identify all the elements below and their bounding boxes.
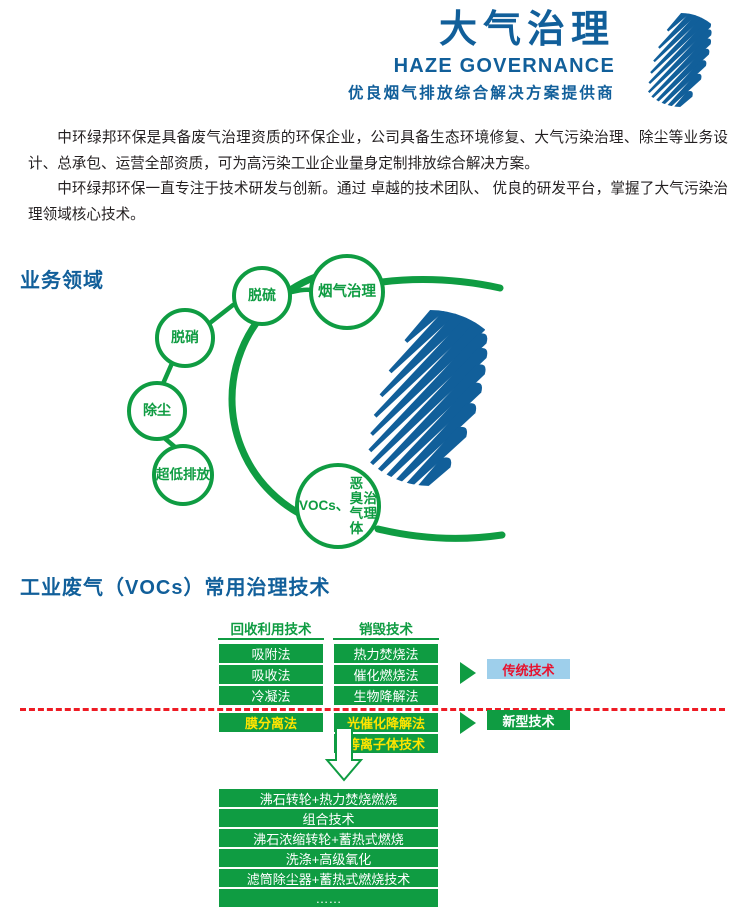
node-line: VOCs、	[299, 498, 349, 513]
voc-column-rule-recovery	[218, 638, 324, 640]
voc-box-recovery-1: 吸附法	[218, 643, 324, 664]
arrow-down-icon	[324, 726, 364, 786]
header-subtitle: 优良烟气排放综合解决方案提供商	[348, 83, 615, 105]
header-title-cn: 大气治理	[348, 8, 615, 52]
diagram-node-yanqi: 烟气治理	[309, 254, 385, 330]
node-line: 排放	[183, 467, 210, 482]
intro-paragraph-1: 中环绿邦环保是具备废气治理资质的环保企业，公司具备生态环境修复、大气污染治理、除…	[28, 126, 728, 177]
node-line: 烟气	[318, 284, 347, 300]
voc-box-destruction-3: 生物降解法	[333, 685, 439, 706]
voc-technology-diagram: 回收利用技术 销毁技术 吸附法 吸收法 冷凝法 热力焚烧法 催化燃烧法 生物降解…	[0, 600, 750, 900]
intro-paragraphs: 中环绿邦环保是具备废气治理资质的环保企业，公司具备生态环境修复、大气污染治理、除…	[28, 126, 728, 228]
voc-badge-traditional: 传统技术	[487, 659, 570, 679]
voc-combination-row-5: 滤筒除尘器+蓄热式燃烧技术	[218, 868, 439, 888]
node-line: 除尘	[143, 403, 171, 419]
diagram-node-vocs: VOCs、恶臭气体治理	[295, 463, 381, 549]
node-line: 恶臭气体	[349, 476, 363, 536]
voc-box-recovery-3: 冷凝法	[218, 685, 324, 706]
node-line: 治理	[347, 284, 376, 300]
node-line: 脱硝	[171, 330, 199, 346]
voc-combination-row-3: 沸石浓缩转轮+蓄热式燃烧	[218, 828, 439, 848]
voc-box-destruction-1: 热力焚烧法	[333, 643, 439, 664]
triangle-right-icon-modern	[460, 712, 476, 734]
voc-combination-row-1: 沸石转轮+热力焚烧燃烧	[218, 788, 439, 808]
section-title-voc: 工业废气（VOCs）常用治理技术	[20, 571, 330, 600]
voc-column-rule-destruction	[333, 638, 439, 640]
section-title-business: 业务领域	[20, 264, 104, 293]
business-diagram: 脱硫 脱硝 除尘 超低排放 烟气治理 VOCs、恶臭气体治理	[110, 248, 630, 548]
intro-paragraph-2: 中环绿邦环保一直专注于技术研发与创新。通过 卓越的技术团队、 优良的研发平台，掌…	[28, 177, 728, 228]
voc-badge-modern: 新型技术	[487, 710, 570, 730]
diagram-node-tuoxiao: 脱硝	[155, 308, 215, 368]
striped-circle-logo-icon	[620, 10, 742, 110]
voc-combination-row-4: 洗涤+高级氧化	[218, 848, 439, 868]
triangle-right-icon-traditional	[460, 662, 476, 684]
voc-box-recovery-2: 吸收法	[218, 664, 324, 685]
voc-combination-row-2: 组合技术	[218, 808, 439, 828]
node-line: 超低	[156, 467, 183, 482]
voc-divider-dashed	[20, 708, 725, 711]
voc-box-recovery-modern-1: 膜分离法	[218, 712, 324, 733]
diagram-node-chuchen: 除尘	[127, 381, 187, 441]
voc-column-header-recovery: 回收利用技术	[218, 618, 324, 638]
voc-box-destruction-2: 催化燃烧法	[333, 664, 439, 685]
voc-column-header-destruction: 销毁技术	[333, 618, 439, 638]
voc-combination-row-6: ……	[218, 888, 439, 908]
page-header: 大气治理 HAZE GOVERNANCE 优良烟气排放综合解决方案提供商	[0, 0, 750, 118]
header-title-en: HAZE GOVERNANCE	[348, 53, 615, 79]
node-line: 治理	[364, 491, 378, 521]
diagram-node-chaodi: 超低排放	[152, 444, 214, 506]
diagram-node-tuoliu: 脱硫	[232, 266, 292, 326]
header-text-block: 大气治理 HAZE GOVERNANCE 优良烟气排放综合解决方案提供商	[348, 8, 615, 105]
node-line: 脱硫	[248, 288, 276, 304]
